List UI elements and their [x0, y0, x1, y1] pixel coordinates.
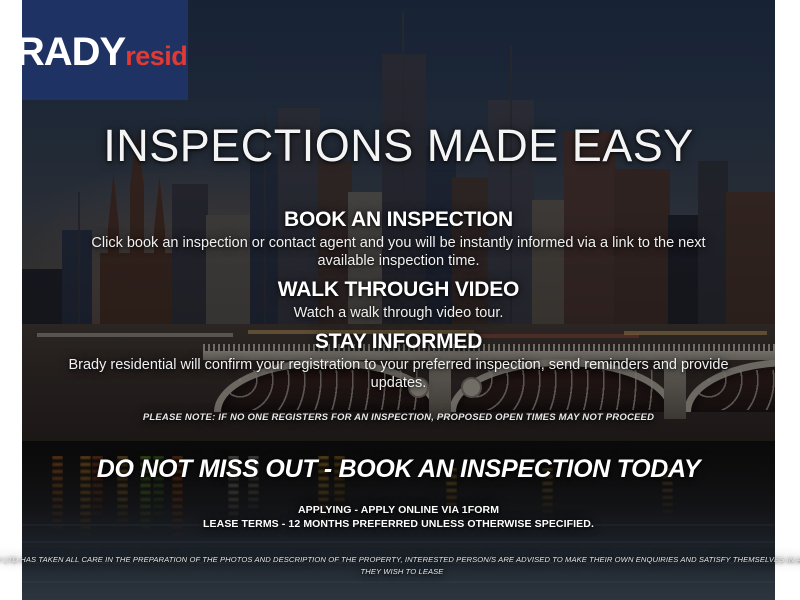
applying-line: APPLYING - APPLY ONLINE VIA 1FORM: [22, 503, 775, 517]
please-note-text: PLEASE NOTE: IF NO ONE REGISTERS FOR AN …: [22, 412, 775, 423]
disclaimer-line-2: THEY WISH TO LEASE: [0, 566, 800, 578]
text-overlay: INSPECTIONS MADE EASY BOOK AN INSPECTION…: [22, 0, 775, 600]
call-to-action-text: DO NOT MISS OUT - BOOK AN INSPECTION TOD…: [22, 455, 775, 484]
section-heading: BOOK AN INSPECTION: [62, 208, 735, 232]
section-body: Watch a walk through video tour.: [62, 304, 735, 322]
terms-block: APPLYING - APPLY ONLINE VIA 1FORM LEASE …: [22, 503, 775, 531]
lease-terms-line: LEASE TERMS - 12 MONTHS PREFERRED UNLESS…: [22, 517, 775, 531]
legal-disclaimer: TY LTD HAS TAKEN ALL CARE IN THE PREPARA…: [0, 554, 800, 578]
section-body: Brady residential will confirm your regi…: [62, 356, 735, 392]
section-stay-informed: STAY INFORMED Brady residential will con…: [62, 330, 735, 392]
section-heading: STAY INFORMED: [62, 330, 735, 354]
screenshot-canvas: BRADYresidential INSPECTIONS MADE EASY B…: [0, 0, 800, 600]
section-body: Click book an inspection or contact agen…: [62, 234, 735, 270]
section-heading: WALK THROUGH VIDEO: [62, 278, 735, 302]
page-title: INSPECTIONS MADE EASY: [22, 120, 775, 172]
section-book-an-inspection: BOOK AN INSPECTION Click book an inspect…: [62, 208, 735, 270]
disclaimer-line-1: TY LTD HAS TAKEN ALL CARE IN THE PREPARA…: [0, 555, 800, 564]
section-walk-through-video: WALK THROUGH VIDEO Watch a walk through …: [62, 278, 735, 322]
